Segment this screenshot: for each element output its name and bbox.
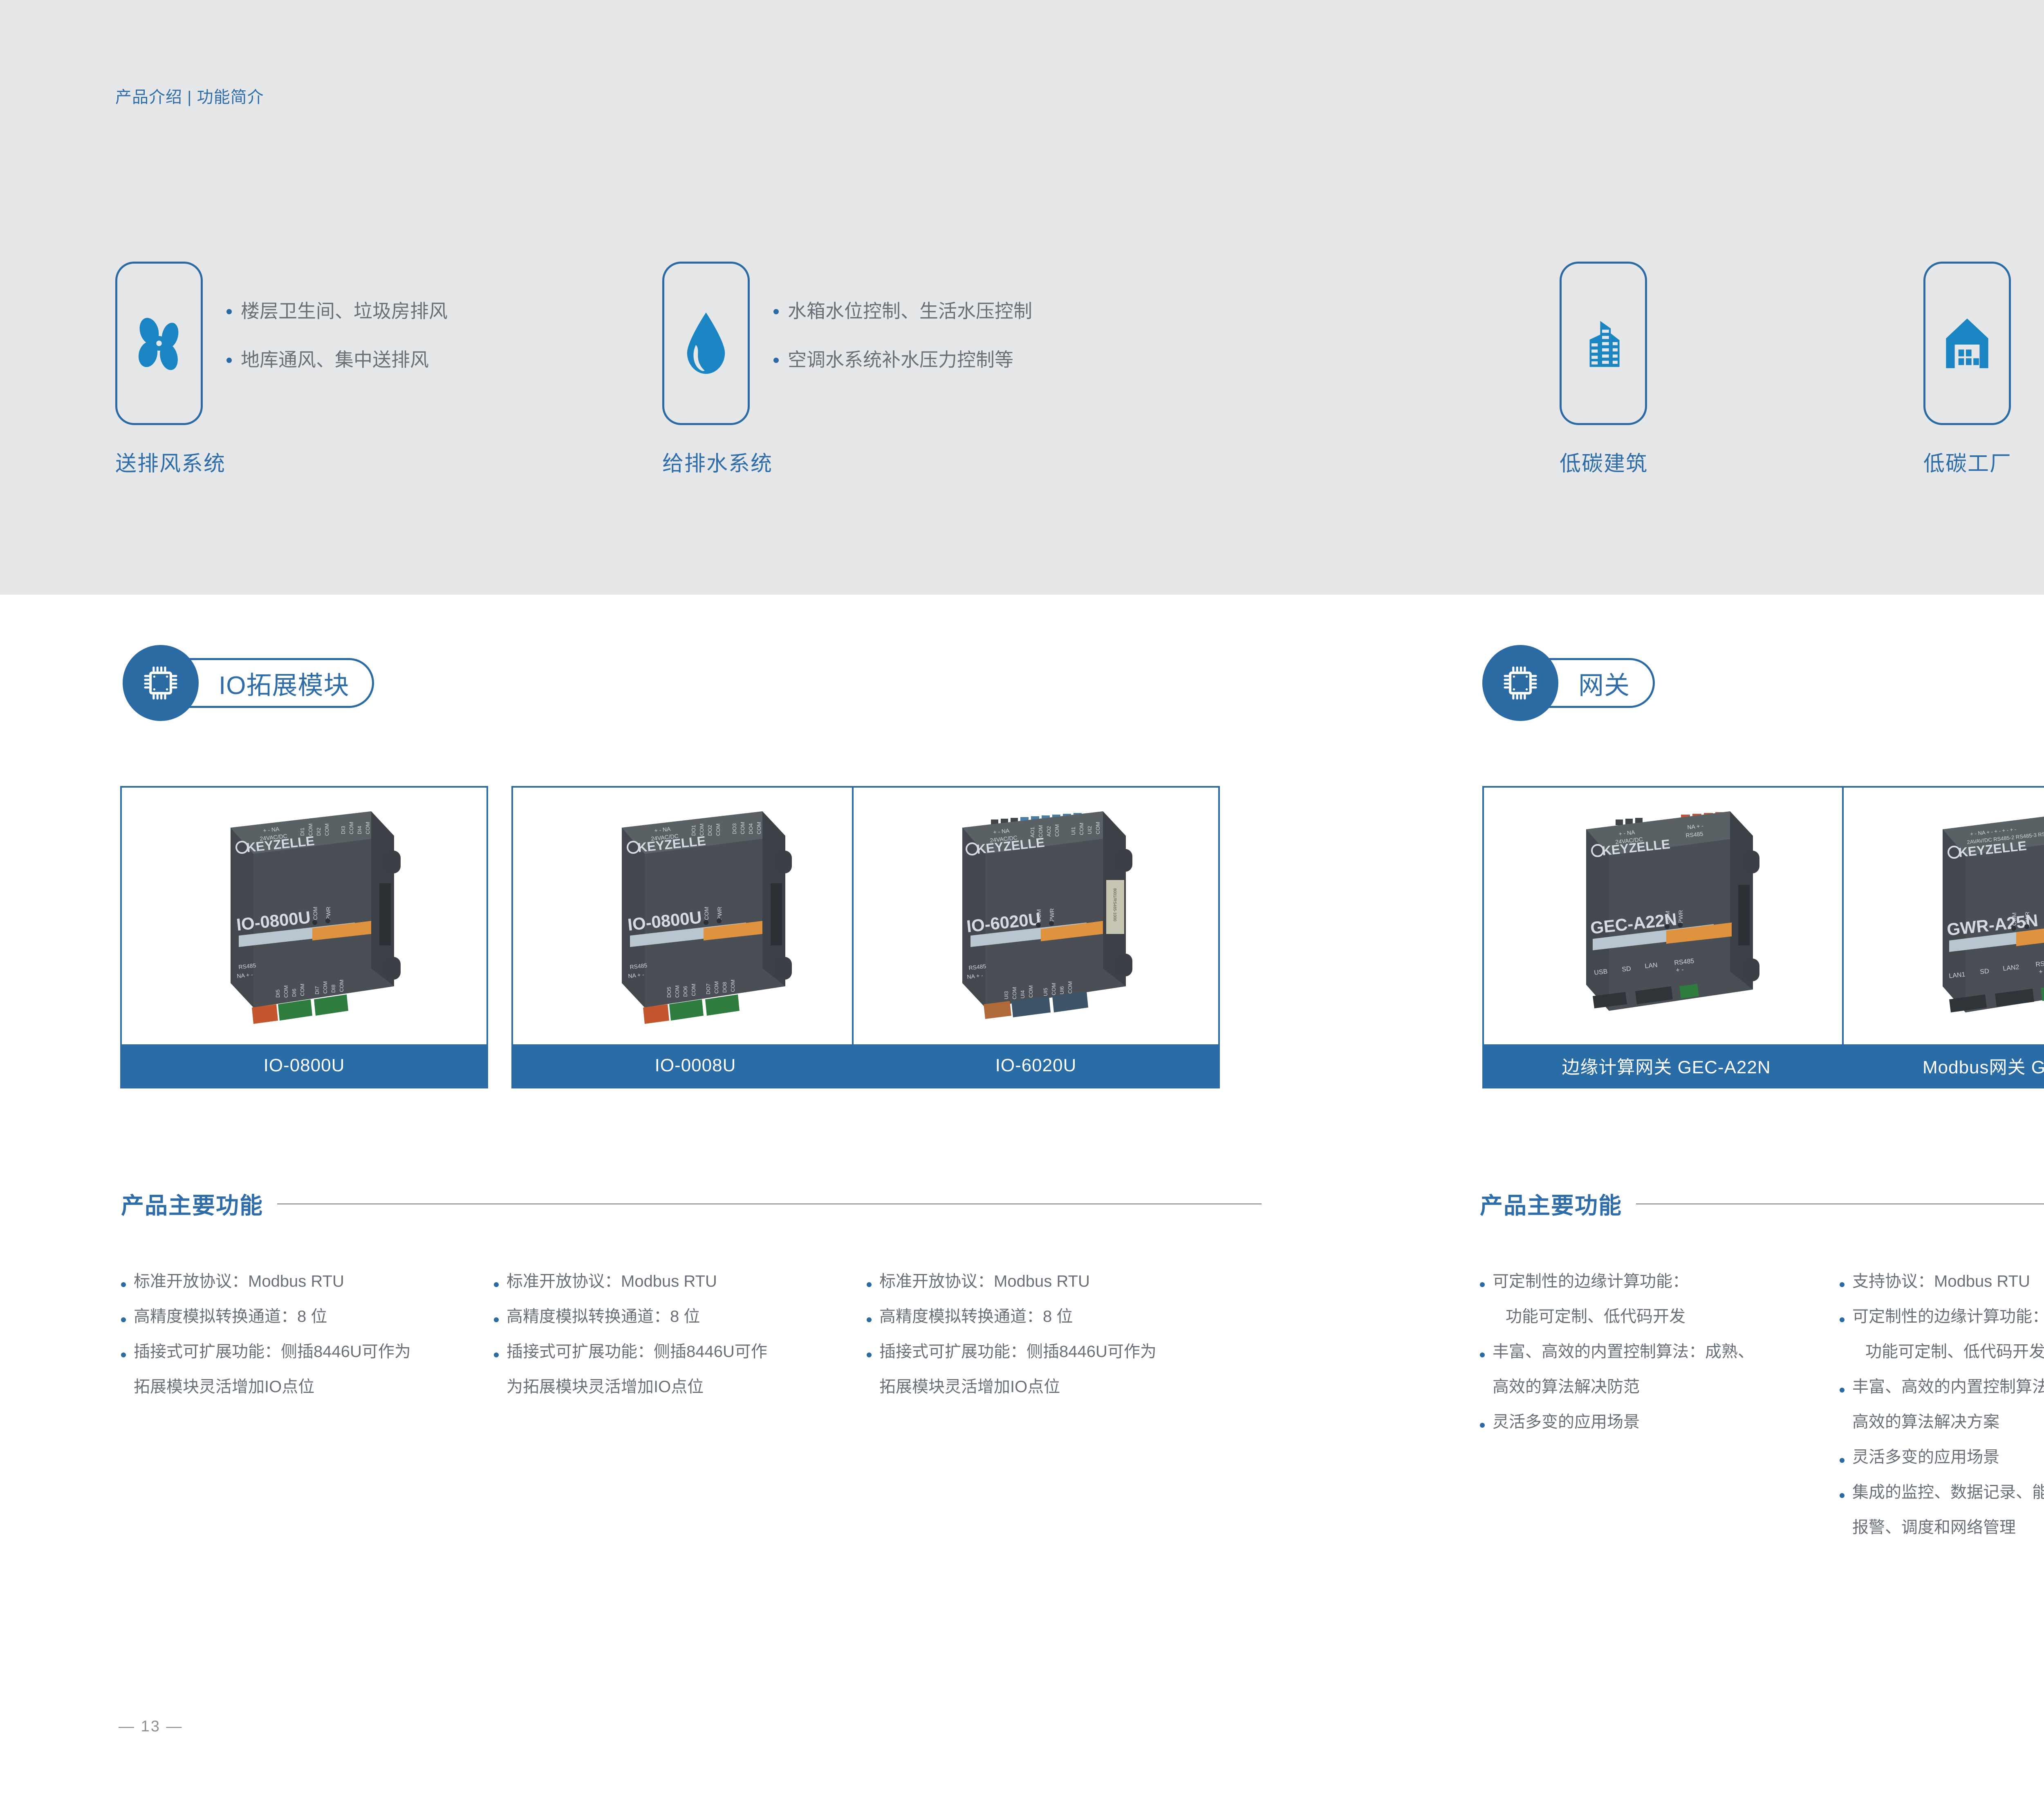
product-label-bar: Modbus网关 GWR-A25N: [1844, 1044, 2044, 1087]
feature-text: 可定制性的边缘计算功能：: [1852, 1308, 2044, 1325]
section-header-io-modules: IO拓展模块: [123, 645, 374, 721]
feature-text: 灵活多变的应用场景: [1852, 1449, 1999, 1465]
feature-text: 拓展模块灵活增加IO点位: [879, 1379, 1156, 1395]
chip-icon: [139, 662, 182, 704]
product-label: 边缘计算网关 GEC-A22N: [1562, 1052, 1771, 1079]
feature-text: 标准开放协议：Modbus RTU: [507, 1273, 717, 1290]
bullet-dot-icon: [867, 1352, 872, 1357]
feature-text: 为拓展模块灵活增加IO点位: [507, 1379, 767, 1395]
scenario-band: [0, 0, 2044, 595]
svg-text:SD: SD: [1622, 965, 1632, 973]
feature-text: 可定制性的边缘计算功能：: [1493, 1273, 1689, 1290]
list-item: 高精度模拟转换通道：8 位: [494, 1308, 878, 1325]
svg-text:COM: COM: [307, 824, 314, 836]
svg-text:COM: COM: [740, 822, 746, 834]
heading-rule: [1636, 1203, 2044, 1205]
svg-text:DO3: DO3: [731, 823, 737, 834]
svg-text:COM: COM: [1028, 985, 1034, 998]
list-item: 高精度模拟转换通道：8 位: [121, 1308, 505, 1325]
product-label: IO-6020U: [995, 1055, 1077, 1076]
section-title: 网关: [1578, 665, 1630, 701]
scenario-plumbing: 水箱水位控制、生活水压控制 空调水系统补水压力控制等 给排水系统: [662, 262, 750, 425]
chip-icon-badge: [1482, 645, 1558, 721]
svg-text:DI6: DI6: [291, 989, 297, 997]
factory-icon: [1936, 312, 1998, 374]
ventilation-bullet-list: 楼层卫生间、垃圾房排风 地库通风、集中送排风: [226, 301, 448, 370]
svg-text:COM: COM: [1067, 981, 1073, 994]
device-illustration-io-0008u: IO-0800U KEYZELLE + - NA 24VAC/DC DO1 CO…: [540, 793, 851, 1039]
svg-text:PWR: PWR: [716, 907, 723, 920]
feature-text: 丰富、高效的内置控制算法：成熟、: [1493, 1343, 1754, 1360]
bullet-dot-icon: [773, 309, 779, 314]
svg-text:8001/RS485-1000: 8001/RS485-1000: [1112, 888, 1117, 922]
running-head-left: 产品介绍 | 功能简介: [115, 84, 264, 107]
scenario-caption: 低碳工厂: [1923, 446, 2011, 477]
svg-text:PWR: PWR: [2024, 911, 2031, 925]
bullet-dot-icon: [1840, 1458, 1845, 1463]
feature-text: 拓展模块灵活增加IO点位: [134, 1379, 411, 1395]
svg-text:DO4: DO4: [748, 823, 754, 834]
product-label-bar: IO-0008U: [513, 1044, 878, 1087]
feature-text: 插接式可扩展功能：侧插8446U可作为: [134, 1343, 411, 1360]
svg-text:AO1: AO1: [1029, 827, 1035, 837]
svg-text:DO2: DO2: [707, 825, 713, 836]
svg-text:DO8: DO8: [722, 982, 728, 993]
water-drop-icon: [677, 310, 735, 377]
scenario-card-low-carbon-factory: 低碳工厂: [1923, 262, 2011, 425]
svg-text:COM: COM: [730, 980, 736, 992]
chip-icon: [1499, 662, 1542, 704]
svg-text:UI4: UI4: [1020, 990, 1026, 999]
svg-text:COM: COM: [299, 984, 305, 996]
features-title: 产品主要功能: [121, 1187, 263, 1220]
bullet-text: 空调水系统补水压力控制等: [788, 349, 1013, 370]
svg-text:+ -: + -: [2039, 968, 2044, 976]
svg-text:UI1: UI1: [1070, 827, 1076, 835]
office-buildings-icon: [1572, 312, 1634, 374]
svg-text:COM: COM: [715, 824, 721, 836]
product-label: IO-0800U: [264, 1055, 345, 1076]
bullet-dot-icon: [867, 1282, 872, 1287]
svg-text:COM: COM: [365, 822, 371, 834]
feature-column-io-0800u: 标准开放协议：Modbus RTU 高精度模拟转换通道：8 位 插接式可扩展功能…: [121, 1273, 505, 1414]
list-item: 标准开放协议：Modbus RTU: [494, 1273, 878, 1290]
list-item: 空调水系统补水压力控制等: [773, 349, 1032, 370]
svg-text:COM: COM: [338, 980, 345, 992]
svg-text:DI5: DI5: [275, 990, 281, 998]
list-item: 灵活多变的应用场景: [1480, 1414, 1840, 1430]
list-item: 可定制性的边缘计算功能： 功能可定制、低代码开发: [1480, 1273, 1840, 1325]
svg-text:UI3: UI3: [1003, 991, 1009, 999]
feature-text: 高精度模拟转换通道：8 位: [879, 1308, 1073, 1325]
svg-text:USB: USB: [1594, 968, 1608, 976]
feature-text: 功能可定制、低代码开发: [1852, 1343, 2044, 1360]
list-item: 支持协议：Modbus RTU: [1840, 1273, 2044, 1290]
feature-text: 功能可定制、低代码开发: [1493, 1308, 1689, 1325]
svg-text:COM: COM: [348, 822, 354, 834]
list-item: 可定制性的边缘计算功能： 功能可定制、低代码开发: [1840, 1308, 2044, 1360]
factory-icon-frame: [1923, 262, 2011, 425]
bullet-dot-icon: [867, 1317, 872, 1322]
device-illustration-gwr-a25n: GWR-A25N KEYZELLE + - NA + - + - + - + -…: [1871, 793, 2044, 1039]
feature-column-gec-a22n: 可定制性的边缘计算功能： 功能可定制、低代码开发 丰富、高效的内置控制算法：成熟…: [1480, 1273, 1840, 1449]
section-title: IO拓展模块: [219, 665, 349, 701]
product-card-gec-a22n[interactable]: GEC-A22N KEYZELLE + - NA 24VAC/DC NA + -…: [1482, 786, 1850, 1088]
svg-text:COM: COM: [690, 984, 697, 996]
device-illustration-gec-a22n: GEC-A22N KEYZELLE + - NA 24VAC/DC NA + -…: [1511, 793, 1822, 1039]
list-item: 插接式可扩展功能：侧插8446U可作为 拓展模块灵活增加IO点位: [867, 1343, 1251, 1395]
feature-text: 标准开放协议：Modbus RTU: [879, 1273, 1090, 1290]
list-item: 丰富、高效的内置控制算法：成熟、 高效的算法解决方案: [1840, 1379, 2044, 1430]
list-item: 集成的监控、数据记录、能耗计量、 报警、调度和网络管理: [1840, 1484, 2044, 1536]
bullet-dot-icon: [1840, 1317, 1845, 1322]
feature-text: 丰富、高效的内置控制算法：成熟、: [1852, 1379, 2044, 1395]
svg-text:DO1: DO1: [690, 825, 697, 836]
svg-text:COM: COM: [1051, 983, 1057, 995]
svg-text:AO2: AO2: [1046, 826, 1052, 837]
feature-text: 高精度模拟转换通道：8 位: [134, 1308, 327, 1325]
page-spread: 产品介绍 | 功能简介 产品介绍 | 功能简介 楼层卫生间、垃圾房排风: [0, 0, 2044, 1798]
bullet-dot-icon: [1480, 1352, 1485, 1357]
bullet-text: 水箱水位控制、生活水压控制: [788, 301, 1032, 322]
features-title: 产品主要功能: [1480, 1187, 1622, 1220]
list-item: 灵活多变的应用场景: [1840, 1449, 2044, 1465]
svg-text:COM: COM: [2011, 912, 2017, 926]
bullet-dot-icon: [1480, 1423, 1485, 1428]
svg-text:LAN: LAN: [1645, 962, 1658, 970]
svg-text:COM: COM: [1035, 909, 1042, 923]
product-photo: IO-0800U KEYZELLE + - NA 24VAC/DC DO1 CO…: [513, 788, 878, 1044]
features-heading-gateways: 产品主要功能: [1480, 1187, 2044, 1220]
bullet-dot-icon: [494, 1282, 499, 1287]
svg-text:SD: SD: [1980, 968, 1990, 976]
svg-text:COM: COM: [1054, 824, 1060, 837]
feature-text: 插接式可扩展功能：侧插8446U可作为: [879, 1343, 1156, 1360]
svg-text:COM: COM: [312, 907, 318, 920]
section-header-gateways: 网关: [1482, 645, 1655, 721]
list-item: 水箱水位控制、生活水压控制: [773, 301, 1032, 322]
feature-column-gwr-a25n: 支持协议：Modbus RTU 可定制性的边缘计算功能： 功能可定制、低代码开发…: [1840, 1273, 2044, 1554]
svg-text:COM: COM: [1078, 823, 1085, 835]
product-card-io-6020u[interactable]: 8001/RS485-1000 IO-6020U KEYZELLE + - NA…: [852, 786, 1220, 1088]
product-label: IO-0008U: [655, 1055, 736, 1076]
svg-text:COM: COM: [322, 981, 328, 994]
svg-text:COM: COM: [1011, 987, 1018, 999]
svg-text:COM: COM: [699, 824, 705, 836]
feature-text: 报警、调度和网络管理: [1852, 1519, 2044, 1536]
svg-text:COM: COM: [703, 907, 710, 920]
feature-text: 标准开放协议：Modbus RTU: [134, 1273, 344, 1290]
svg-text:DI1: DI1: [299, 828, 305, 836]
svg-text:DI3: DI3: [340, 826, 346, 834]
feature-text: 支持协议：Modbus RTU: [1852, 1273, 2030, 1290]
water-drop-icon-frame: [662, 262, 750, 425]
bullet-dot-icon: [226, 309, 232, 314]
scenario-card-low-carbon-building: 低碳建筑: [1560, 262, 1647, 425]
svg-text:DI4: DI4: [356, 826, 363, 834]
features-heading-io: 产品主要功能: [121, 1187, 1262, 1220]
chip-icon-badge: [123, 645, 199, 721]
device-illustration-io-0800u: IO-0800U KEYZELLE + - NA 24VAC/DC DI1 CO…: [149, 793, 459, 1039]
svg-text:DO6: DO6: [682, 986, 688, 997]
feature-text: 灵活多变的应用场景: [1493, 1414, 1640, 1430]
feature-text: 插接式可扩展功能：侧插8446U可作: [507, 1343, 767, 1360]
bullet-dot-icon: [1480, 1282, 1485, 1287]
list-item: 楼层卫生间、垃圾房排风: [226, 301, 448, 322]
bullet-dot-icon: [1840, 1388, 1845, 1393]
svg-text:COM: COM: [283, 985, 289, 998]
feature-text: 高效的算法解决方案: [1852, 1414, 2044, 1430]
plumbing-bullet-list: 水箱水位控制、生活水压控制 空调水系统补水压力控制等: [773, 301, 1032, 370]
scenario-caption: 低碳建筑: [1560, 446, 1647, 477]
product-card-io-0008u[interactable]: IO-0800U KEYZELLE + - NA 24VAC/DC DO1 CO…: [511, 786, 879, 1088]
svg-text:COM: COM: [1038, 825, 1044, 837]
bullet-dot-icon: [226, 358, 232, 363]
svg-text:COM: COM: [1095, 822, 1101, 834]
product-card-gwr-a25n[interactable]: GWR-A25N KEYZELLE + - NA + - + - + - + -…: [1842, 786, 2044, 1088]
fan-icon-frame: [115, 262, 203, 425]
scenario-caption: 送排风系统: [115, 446, 226, 477]
feature-text: 集成的监控、数据记录、能耗计量、: [1852, 1484, 2044, 1500]
bullet-text: 楼层卫生间、垃圾房排风: [241, 301, 448, 322]
bullet-text: 地库通风、集中送排风: [241, 349, 429, 370]
svg-text:UI5: UI5: [1042, 988, 1049, 996]
svg-text:COM: COM: [756, 822, 762, 834]
bullet-dot-icon: [494, 1317, 499, 1322]
bullet-dot-icon: [1840, 1493, 1845, 1498]
feature-column-io-6020u: 标准开放协议：Modbus RTU 高精度模拟转换通道：8 位 插接式可扩展功能…: [867, 1273, 1251, 1414]
scenario-caption: 给排水系统: [662, 446, 773, 477]
bullet-dot-icon: [121, 1317, 126, 1322]
feature-text: 高效的算法解决防范: [1493, 1379, 1754, 1395]
feature-text: 高精度模拟转换通道：8 位: [507, 1308, 700, 1325]
svg-text:PWR: PWR: [1677, 910, 1684, 923]
list-item: 高精度模拟转换通道：8 位: [867, 1308, 1251, 1325]
svg-text:UI6: UI6: [1059, 986, 1065, 994]
svg-text:DI8: DI8: [330, 985, 336, 993]
svg-text:+ -: + -: [1676, 966, 1684, 974]
device-illustration-io-6020u: 8001/RS485-1000 IO-6020U KEYZELLE + - NA…: [881, 793, 1191, 1039]
bullet-dot-icon: [121, 1282, 126, 1287]
bullet-dot-icon: [773, 358, 779, 363]
bullet-dot-icon: [1840, 1282, 1845, 1287]
scenario-ventilation: 楼层卫生间、垃圾房排风 地库通风、集中送排风 送排风系统: [115, 262, 203, 425]
product-label-bar: IO-6020U: [854, 1044, 1218, 1087]
list-item: 插接式可扩展功能：侧插8446U可作为 拓展模块灵活增加IO点位: [121, 1343, 505, 1395]
product-label-bar: IO-0800U: [122, 1044, 486, 1087]
svg-text:DO5: DO5: [666, 987, 672, 998]
list-item: 丰富、高效的内置控制算法：成熟、 高效的算法解决防范: [1480, 1343, 1840, 1395]
fan-icon: [128, 313, 190, 374]
svg-text:UI2: UI2: [1087, 826, 1093, 834]
office-buildings-icon-frame: [1560, 262, 1647, 425]
list-item: 插接式可扩展功能：侧插8446U可作 为拓展模块灵活增加IO点位: [494, 1343, 878, 1395]
product-label-bar: 边缘计算网关 GEC-A22N: [1484, 1044, 1849, 1087]
svg-text:COM: COM: [713, 981, 719, 994]
product-card-io-0800u[interactable]: IO-0800U KEYZELLE + - NA 24VAC/DC DI1 CO…: [120, 786, 488, 1088]
svg-text:DO7: DO7: [705, 983, 711, 994]
svg-text:PWR: PWR: [1049, 908, 1055, 922]
bullet-dot-icon: [494, 1352, 499, 1357]
svg-text:COM: COM: [324, 824, 330, 836]
bullet-dot-icon: [121, 1352, 126, 1357]
svg-text:PWR: PWR: [325, 907, 332, 920]
list-item: 标准开放协议：Modbus RTU: [121, 1273, 505, 1290]
svg-text:DI7: DI7: [314, 986, 320, 994]
feature-column-io-0008u: 标准开放协议：Modbus RTU 高精度模拟转换通道：8 位 插接式可扩展功能…: [494, 1273, 878, 1414]
list-item: 标准开放协议：Modbus RTU: [867, 1273, 1251, 1290]
product-photo: IO-0800U KEYZELLE + - NA 24VAC/DC DI1 CO…: [122, 788, 486, 1044]
product-photo: 8001/RS485-1000 IO-6020U KEYZELLE + - NA…: [854, 788, 1218, 1044]
product-photo: GEC-A22N KEYZELLE + - NA 24VAC/DC NA + -…: [1484, 788, 1849, 1044]
product-photo: GWR-A25N KEYZELLE + - NA + - + - + - + -…: [1844, 788, 2044, 1044]
list-item: 地库通风、集中送排风: [226, 349, 448, 370]
heading-rule: [277, 1203, 1262, 1205]
svg-text:DI2: DI2: [316, 828, 322, 836]
svg-text:COM: COM: [1664, 911, 1671, 924]
svg-text:COM: COM: [674, 985, 680, 998]
product-label: Modbus网关 GWR-A25N: [1923, 1052, 2044, 1079]
page-number-left: — 13 —: [119, 1718, 183, 1735]
